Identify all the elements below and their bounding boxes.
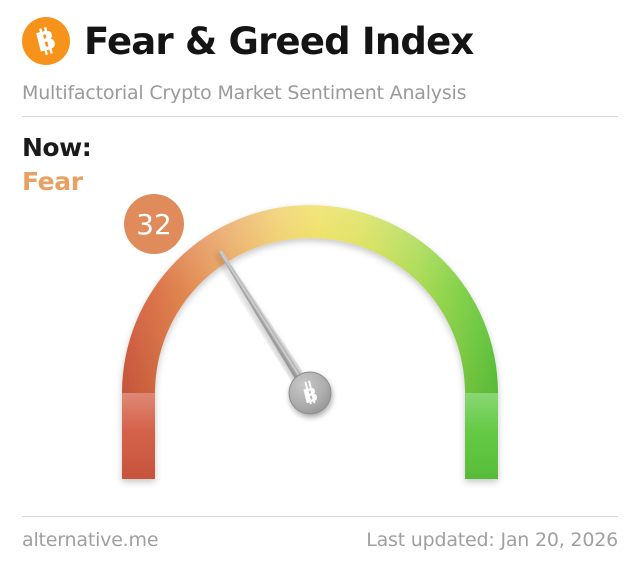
page-footer: alternative.me Last updated: Jan 20, 202… (22, 529, 618, 551)
page-header: B Fear & Greed Index Multifactorial Cryp… (0, 0, 640, 116)
source-link[interactable]: alternative.me (22, 529, 158, 551)
gauge-needle (215, 248, 314, 396)
gauge-hub: B (289, 372, 331, 414)
gauge-chart: B (0, 186, 640, 511)
fear-greed-index-page: B Fear & Greed Index Multifactorial Cryp… (0, 0, 640, 575)
index-value-badge: 32 (124, 194, 184, 254)
last-updated-text: Last updated: Jan 20, 2026 (366, 529, 618, 551)
title-row: B Fear & Greed Index (22, 17, 473, 65)
page-subtitle: Multifactorial Crypto Market Sentiment A… (22, 82, 466, 104)
footer-divider (22, 516, 618, 517)
now-label: Now: (22, 134, 91, 162)
header-divider (22, 116, 618, 117)
bitcoin-logo-icon: B (22, 17, 70, 65)
page-title: Fear & Greed Index (84, 23, 473, 60)
gauge-arc-band (122, 205, 498, 479)
